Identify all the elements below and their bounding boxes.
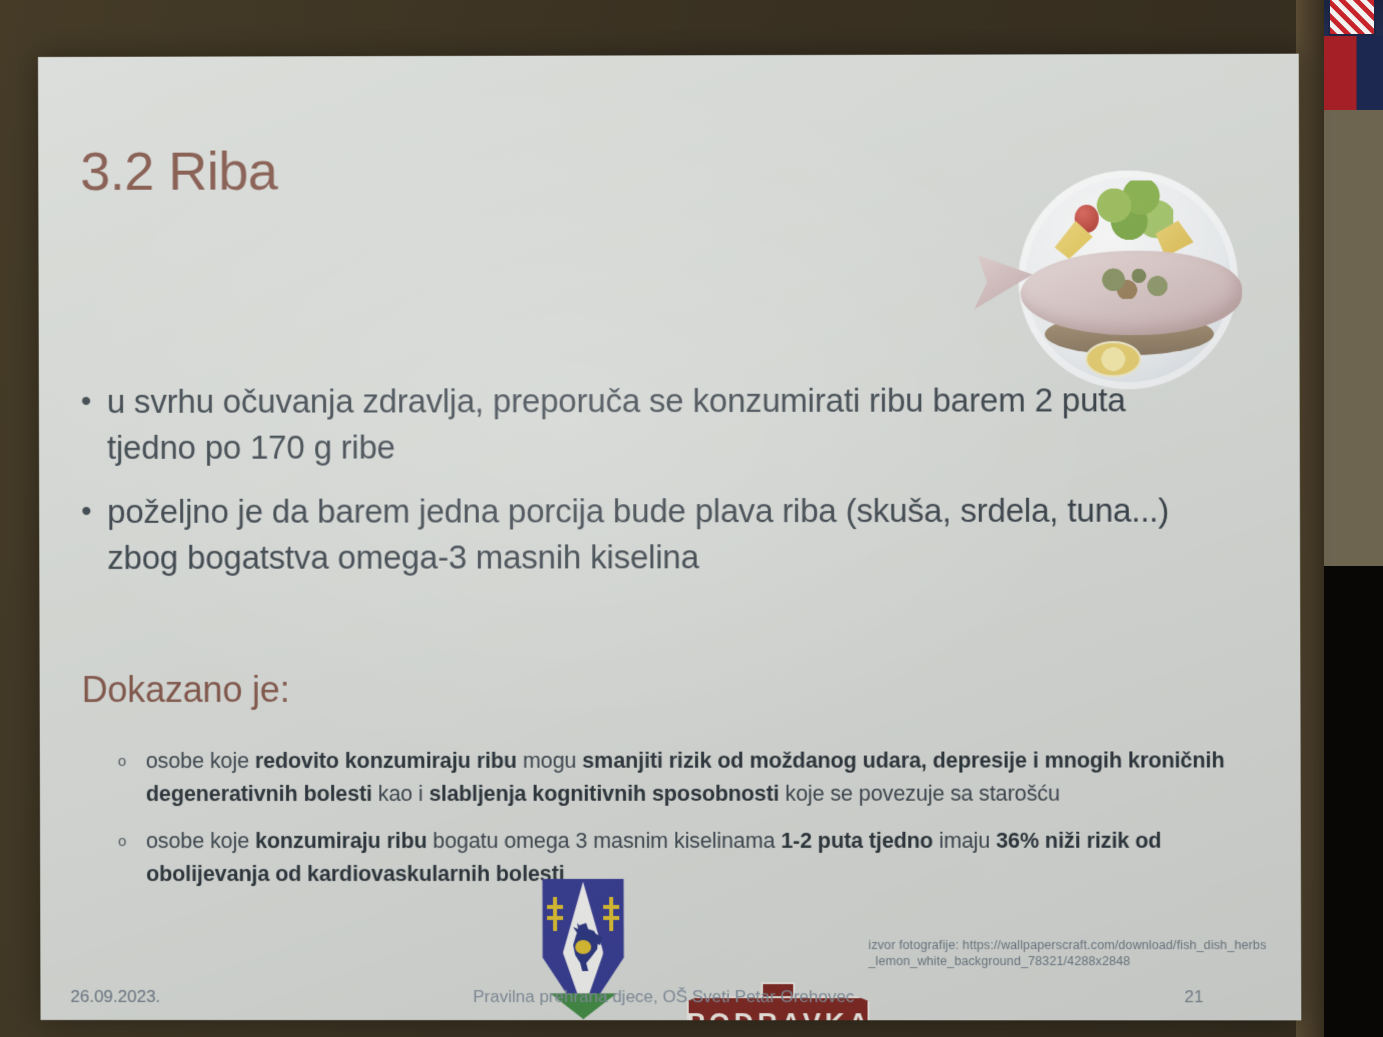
footer-date: 26.09.2023. [70,987,160,1007]
page-title: 3.2 Riba [80,144,277,198]
list-item: • poželjno je da barem jedna porcija bud… [81,487,1205,580]
poster-stripe [1324,36,1383,110]
bullet-text: u svrhu očuvanja zdravlja, preporuča se … [107,377,1205,471]
wall-right-lower [1324,566,1383,1037]
podravka-wordmark: PODRAVKA [687,1008,866,1020]
sub-bullet-marker-icon: o [118,825,146,859]
double-cross-icon-left [547,897,563,931]
sub-bullet-text: osobe koje redovito konzumiraju ribu mog… [146,744,1232,811]
footer-page-number: 21 [1184,987,1203,1007]
croatian-emblem-poster [1324,0,1383,110]
checkerboard-emblem-icon [1328,0,1376,36]
double-cross-icon-right [603,897,619,931]
fish-dish-photo [966,162,1258,396]
fish-herb-topping [1095,267,1180,299]
section-heading: Dokazano je: [82,669,290,711]
rooster-icon [564,919,604,977]
bullet-marker-icon: • [81,379,107,425]
projected-slide: 3.2 Riba • u svrhu očuvanja zdravlja, pr… [38,54,1301,1021]
list-item: o osobe koje konzumiraju ribu bogatu ome… [118,825,1232,891]
bullet-text: poželjno je da barem jedna porcija bude … [107,487,1205,580]
footer-title: Pravilna prehrana djece, OŠ Sveti Petar … [473,987,854,1007]
main-bullet-list: • u svrhu očuvanja zdravlja, preporuča s… [81,377,1206,599]
lemon-slice-front [1085,341,1141,377]
photo-credit: izvor fotografije: https://wallpaperscra… [868,937,1271,969]
list-item: • u svrhu očuvanja zdravlja, preporuča s… [81,377,1205,471]
sub-bullet-text: osobe koje konzumiraju ribu bogatu omega… [146,825,1232,891]
sub-bullet-marker-icon: o [118,745,146,779]
list-item: o osobe koje redovito konzumiraju ribu m… [118,744,1232,811]
bullet-marker-icon: • [81,489,107,535]
sub-bullet-list: o osobe koje redovito konzumiraju ribu m… [118,744,1233,905]
